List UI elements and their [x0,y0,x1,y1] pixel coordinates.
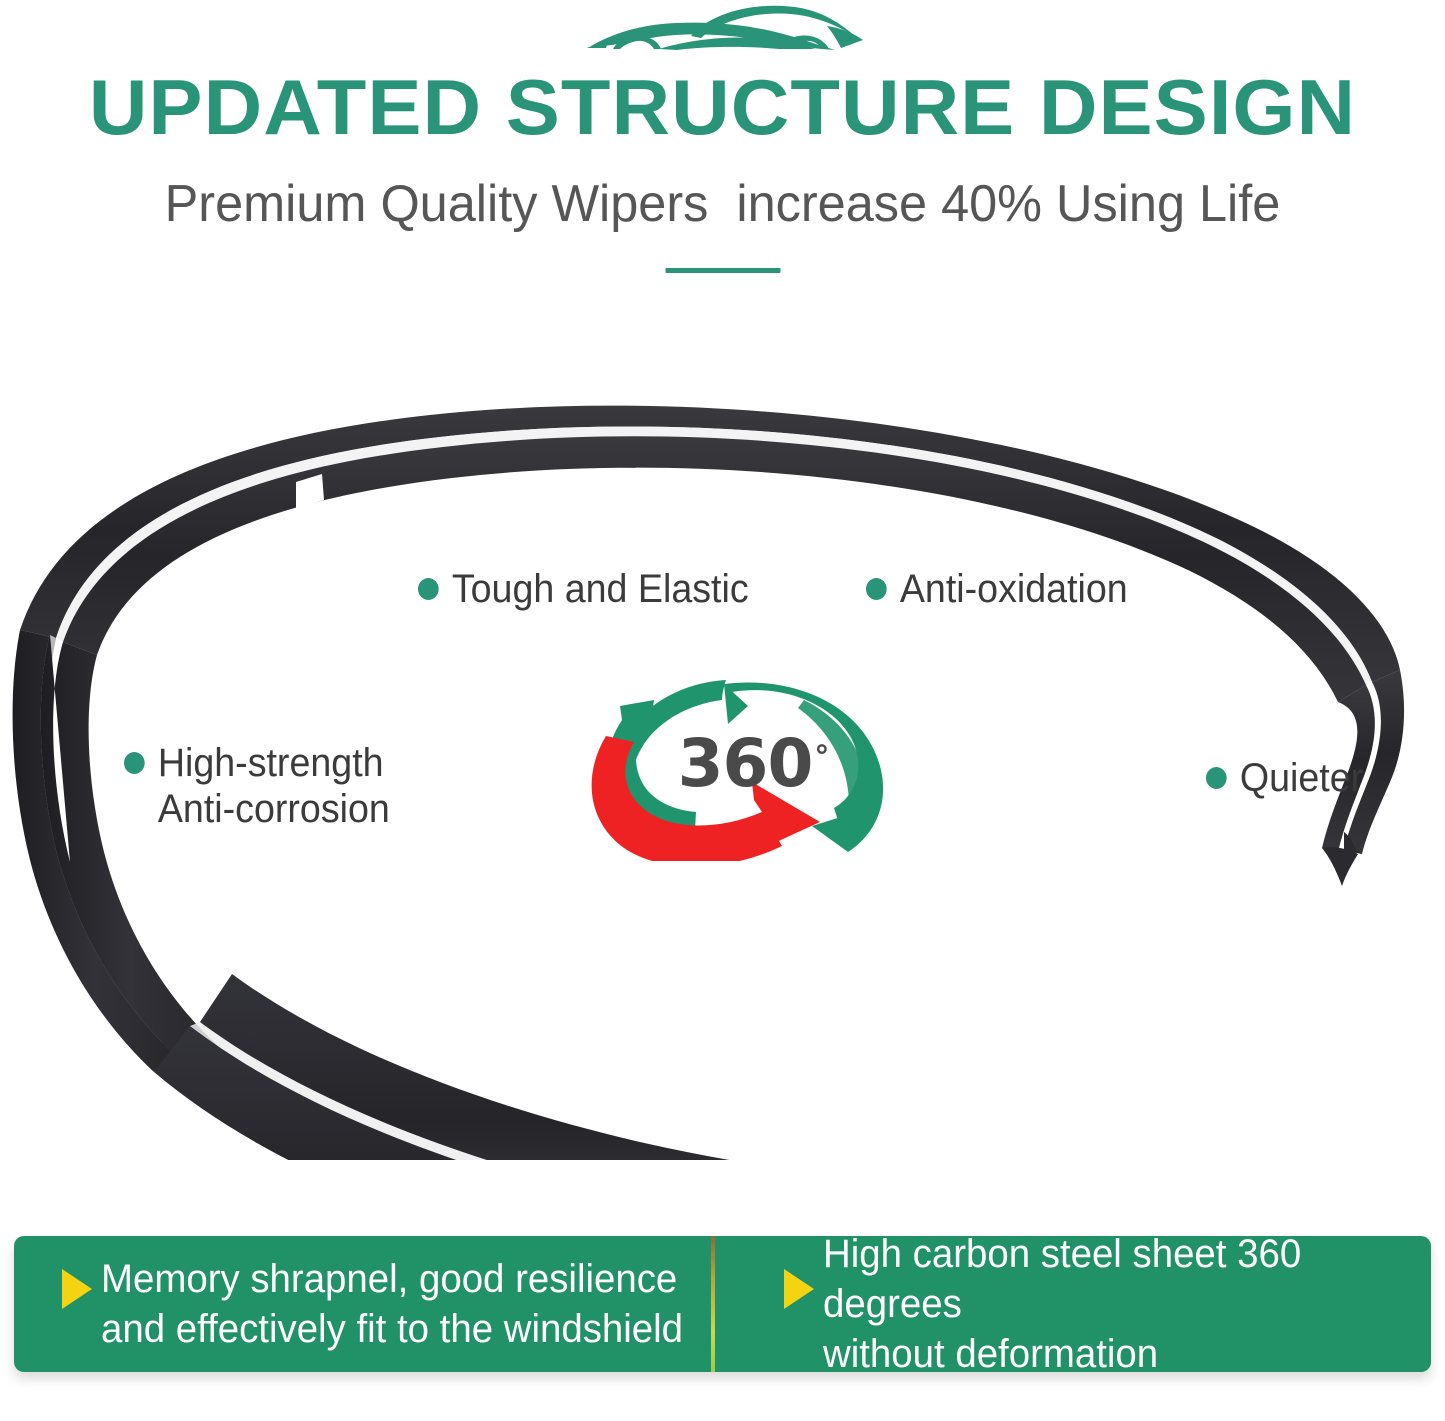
badge-value: 360 [678,725,813,802]
banner-item-high-carbon-steel: High carbon steel sheet 360 degrees with… [710,1236,1432,1372]
brand-logo [0,2,1445,64]
bottom-feature-banner: Memory shrapnel, good resilience and eff… [14,1236,1431,1372]
car-silhouette-logo-icon [573,2,873,64]
feature-label: High-strength Anti-corrosion [158,740,390,832]
banner-text: High carbon steel sheet 360 degrees with… [823,1236,1407,1372]
feature-label: Tough and Elastic [452,566,749,612]
banner-vertical-divider [711,1236,715,1372]
triangle-bullet-icon [62,1269,92,1309]
title-divider [665,268,780,273]
feature-anti-oxidation: Anti-oxidation [866,566,1128,612]
feature-label: Quieter [1240,755,1363,801]
strip-notch-upper-2 [300,507,330,538]
feature-tough-and-elastic: Tough and Elastic [418,566,749,612]
page-title: UPDATED STRUCTURE DESIGN [0,60,1445,154]
bullet-dot-icon [1206,767,1227,789]
badge-360-degrees: 360° [576,666,916,861]
product-marketing-page: UPDATED STRUCTURE DESIGN Premium Quality… [0,0,1445,1421]
banner-text: Memory shrapnel, good resilience and eff… [101,1254,683,1354]
feature-quieter: Quieter [1206,755,1363,801]
strip-tail-taper [1322,847,1358,886]
feature-high-strength-anti-corrosion: High-strength Anti-corrosion [124,740,390,832]
page-subtitle: Premium Quality Wipers increase 40% Usin… [22,172,1424,236]
triangle-bullet-icon [784,1269,814,1309]
banner-item-memory-shrapnel: Memory shrapnel, good resilience and eff… [14,1236,710,1372]
feature-label: Anti-oxidation [900,566,1128,612]
bullet-dot-icon [866,578,887,600]
bullet-dot-icon [418,578,439,600]
badge-360-text: 360° [576,666,916,861]
bullet-dot-icon [124,752,145,774]
